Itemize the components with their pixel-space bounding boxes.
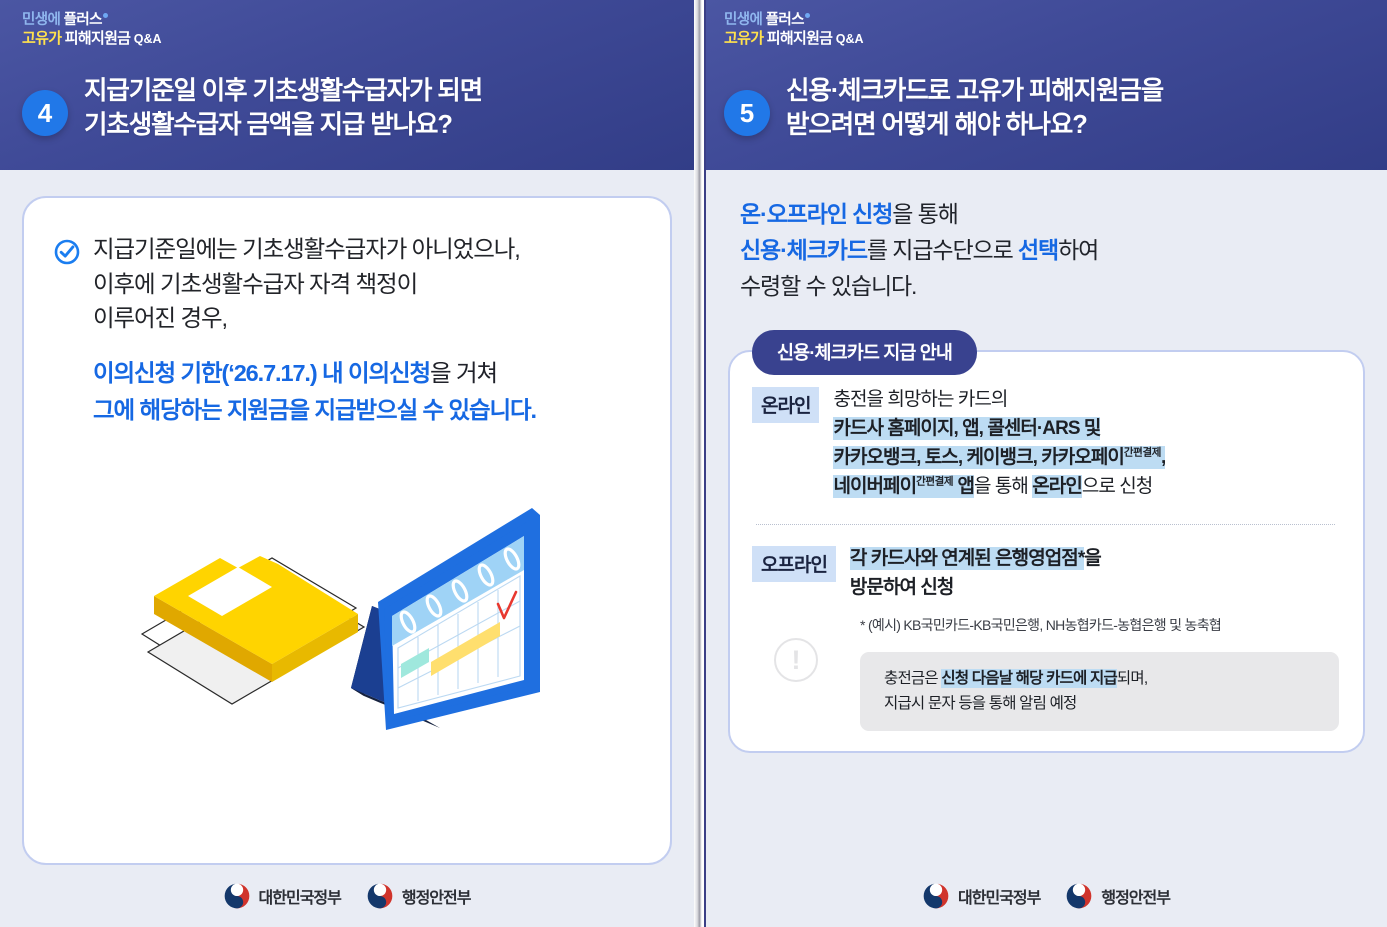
taegeuk-logo: [224, 883, 250, 909]
brand-logo: 민생에 플러스 고유가 피해지원금 Q&A: [724, 12, 1387, 48]
taegeuk-logo: [367, 883, 393, 909]
gov-logo-korea-label: 대한민국정부: [958, 884, 1040, 908]
offline-footnote: * (예시) KB국민카드-KB국민은행, NH농협카드-농협은행 및 농축협: [860, 615, 1339, 635]
offline-tag: 오프라인: [752, 546, 836, 582]
brand-line1-part1: 민생에: [22, 12, 60, 28]
online-line-3-mark: 카카오뱅크, 토스, 케이뱅크, 카카오페이간편결제,: [833, 446, 1165, 469]
online-line-4: 네이버페이간편결제 앱을 통해 온라인으로 신청: [833, 473, 1165, 502]
guide-box: 온라인 충전을 희망하는 카드의 카드사 홈페이지, 앱, 콜센터·ARS 및 …: [728, 350, 1365, 752]
online-line-4-text: 네이버페이: [833, 476, 916, 497]
question-number-badge-5: 5: [724, 90, 770, 136]
answer-line-1: 지급기준일에는 기초생활수급자가 아니었으나,: [93, 232, 536, 267]
answer-highlight-blue-1: 이의신청 기한(‘26.7.17.) 내 이의신청: [93, 360, 430, 386]
online-line-3: 카카오뱅크, 토스, 케이뱅크, 카카오페이간편결제,: [833, 444, 1165, 473]
gov-logo-mois: 행정안전부: [1066, 883, 1170, 909]
brand-line2-part2: 피해지원금: [767, 30, 833, 47]
right-footer: 대한민국정부 행정안전부: [706, 865, 1387, 927]
panel-question-4: 민생에 플러스 고유가 피해지원금 Q&A 4 지급기준일 이후 기초생활수급자…: [0, 0, 694, 927]
brand-line1-part1: 민생에: [724, 12, 762, 28]
calendar-and-folder-illustration: [120, 496, 540, 751]
answer-highlight-line-1: 이의신청 기한(‘26.7.17.) 내 이의신청을 거쳐: [93, 356, 536, 391]
gov-logo-korea: 대한민국정부: [224, 883, 341, 909]
note-line-1: 충전금은 신청 다음날 해당 카드에 지급되며,: [884, 666, 1321, 691]
answer-block: 지급기준일에는 기초생활수급자가 아니었으나, 이후에 기초생활수급자 자격 책…: [54, 232, 640, 428]
note-line-1-mark: 신청 다음날 해당 카드에 지급: [941, 669, 1117, 688]
brand-line1-part2: 플러스: [766, 12, 804, 28]
brand-line2-part1: 고유가: [22, 30, 61, 47]
brand-line2: 고유가 피해지원금 Q&A: [22, 31, 694, 48]
section-divider: [756, 524, 1335, 525]
left-question-row: 4 지급기준일 이후 기초생활수급자가 되면 기초생활수급자 금액을 지급 받나…: [22, 74, 694, 142]
gov-logo-korea-label: 대한민국정부: [259, 884, 341, 908]
right-intro-line-1: 온·오프라인 신청을 통해: [740, 196, 1387, 232]
brand-line2: 고유가 피해지원금 Q&A: [724, 31, 1387, 48]
answer-highlight-tail-1: 을 거쳐: [430, 360, 497, 386]
right-question-title: 신용·체크카드로 고유가 피해지원금을 받으려면 어떻게 해야 하나요?: [786, 74, 1163, 142]
gov-logo-mois-label: 행정안전부: [402, 884, 471, 908]
left-question-line-2: 기초생활수급자 금액을 지급 받나요?: [84, 111, 452, 139]
offline-line-1-mark: 각 카드사와 연계된 은행영업점*: [850, 547, 1084, 570]
note-callout: ! 충전금은 신청 다음날 해당 카드에 지급되며, 지급시 문자 등을 통해 …: [860, 652, 1339, 731]
online-tag: 온라인: [752, 387, 819, 423]
note-line-1-tail: 되며,: [1117, 670, 1147, 687]
right-intro-tail-2: 하여: [1058, 237, 1098, 263]
check-circle-icon: [54, 239, 80, 428]
right-intro-text: 온·오프라인 신청을 통해 신용·체크카드를 지급수단으로 선택하여 수령할 수…: [740, 196, 1387, 304]
offline-line-1: 각 카드사와 연계된 은행영업점*을: [850, 545, 1101, 574]
taegeuk-logo: [1066, 883, 1092, 909]
right-body: 온·오프라인 신청을 통해 신용·체크카드를 지급수단으로 선택하여 수령할 수…: [706, 170, 1387, 927]
taegeuk-logo: [923, 883, 949, 909]
online-line-2-mark: 카드사 홈페이지, 앱, 콜센터·ARS 및: [833, 417, 1100, 440]
question-number-badge-4: 4: [22, 90, 68, 136]
left-question-title: 지급기준일 이후 기초생활수급자가 되면 기초생활수급자 금액을 지급 받나요?: [84, 74, 482, 142]
brand-qa-label: Q&A: [134, 32, 162, 46]
brand-line1: 민생에 플러스: [724, 12, 1387, 28]
note-line-1-prefix: 충전금은: [884, 670, 941, 687]
answer-line-2: 이후에 기초생활수급자 자격 책정이: [93, 267, 536, 302]
online-line-3-punct: ,: [1161, 447, 1165, 468]
online-line-4-mark: 네이버페이간편결제 앱: [833, 475, 974, 498]
brand-line1-part2: 플러스: [64, 12, 102, 28]
right-question-line-2: 받으려면 어떻게 해야 하나요?: [786, 111, 1087, 139]
payment-guide-section: 신용·체크카드 지급 안내 온라인 충전을 희망하는 카드의 카드사 홈페이지,…: [728, 330, 1365, 865]
left-body: 지급기준일에는 기초생활수급자가 아니었으나, 이후에 기초생활수급자 자격 책…: [0, 170, 694, 927]
answer-text-group: 지급기준일에는 기초생활수급자가 아니었으나, 이후에 기초생활수급자 자격 책…: [93, 232, 536, 428]
panel-question-5: 민생에 플러스 고유가 피해지원금 Q&A 5 신용·체크카드로 고유가 피해지…: [704, 0, 1387, 927]
exclamation-icon: !: [774, 638, 818, 682]
online-line-4-app: 앱: [953, 476, 974, 497]
answer-line-3: 이루어진 경우,: [93, 301, 536, 336]
right-question-line-1: 신용·체크카드로 고유가 피해지원금을: [786, 77, 1163, 105]
brand-qa-label: Q&A: [836, 32, 864, 46]
brand-logo: 민생에 플러스 고유가 피해지원금 Q&A: [22, 12, 694, 48]
online-line-3-text: 카카오뱅크, 토스, 케이뱅크, 카카오페이: [833, 447, 1123, 468]
right-intro-highlight-1: 온·오프라인 신청: [740, 201, 892, 227]
guide-badge-label: 신용·체크카드 지급 안내: [752, 330, 977, 375]
gov-logo-mois-label: 행정안전부: [1101, 884, 1170, 908]
right-intro-mid-2: 를 지급수단으로: [867, 237, 1018, 263]
answer-highlight-line-2: 그에 해당하는 지원금을 지급받으실 수 있습니다.: [93, 393, 536, 428]
right-header: 민생에 플러스 고유가 피해지원금 Q&A 5 신용·체크카드로 고유가 피해지…: [706, 0, 1387, 170]
brand-line1: 민생에 플러스: [22, 12, 694, 28]
infographic-stage: 민생에 플러스 고유가 피해지원금 Q&A 4 지급기준일 이후 기초생활수급자…: [0, 0, 1387, 927]
offline-line-1-tail: 을: [1084, 548, 1101, 569]
offline-body: 각 카드사와 연계된 은행영업점*을 방문하여 신청: [850, 545, 1101, 603]
brand-dot-icon: [805, 13, 810, 18]
offline-section: 오프라인 각 카드사와 연계된 은행영업점*을 방문하여 신청: [752, 545, 1339, 603]
gov-logo-mois: 행정안전부: [367, 883, 471, 909]
right-intro-line-3: 수령할 수 있습니다.: [740, 268, 1387, 304]
note-line-2: 지급시 문자 등을 통해 알림 예정: [884, 691, 1321, 716]
brand-line2-part2: 피해지원금: [65, 30, 131, 47]
panel-divider: [694, 0, 704, 927]
note-box: 충전금은 신청 다음날 해당 카드에 지급되며, 지급시 문자 등을 통해 알림…: [860, 652, 1339, 731]
online-line-4-superscript: 간편결제: [916, 476, 953, 488]
left-question-line-1: 지급기준일 이후 기초생활수급자가 되면: [84, 77, 482, 105]
left-footer: 대한민국정부 행정안전부: [0, 865, 694, 927]
online-line-3-superscript: 간편결제: [1124, 447, 1161, 459]
brand-line2-part1: 고유가: [724, 30, 763, 47]
online-line-1: 충전을 희망하는 카드의: [833, 386, 1165, 415]
online-body: 충전을 희망하는 카드의 카드사 홈페이지, 앱, 콜센터·ARS 및 카카오뱅…: [833, 386, 1165, 502]
right-intro-tail-1: 을 통해: [892, 201, 957, 227]
right-intro-highlight-3: 선택: [1018, 237, 1058, 263]
right-question-row: 5 신용·체크카드로 고유가 피해지원금을 받으려면 어떻게 해야 하나요?: [724, 74, 1387, 142]
online-line-4-tail: 으로 신청: [1082, 476, 1152, 497]
right-intro-highlight-2: 신용·체크카드: [740, 237, 867, 263]
brand-dot-icon: [103, 13, 108, 18]
right-intro-line-2: 신용·체크카드를 지급수단으로 선택하여: [740, 232, 1387, 268]
gov-logo-korea: 대한민국정부: [923, 883, 1040, 909]
online-line-4-keyword: 온라인: [1032, 475, 1082, 498]
online-section: 온라인 충전을 희망하는 카드의 카드사 홈페이지, 앱, 콜센터·ARS 및 …: [752, 386, 1339, 502]
offline-line-1-text: 각 카드사와 연계된 은행영업점: [850, 548, 1078, 569]
online-line-4-mid: 을 통해: [974, 476, 1032, 497]
left-answer-card: 지급기준일에는 기초생활수급자가 아니었으나, 이후에 기초생활수급자 자격 책…: [22, 196, 672, 865]
left-header: 민생에 플러스 고유가 피해지원금 Q&A 4 지급기준일 이후 기초생활수급자…: [0, 0, 694, 170]
online-line-2: 카드사 홈페이지, 앱, 콜센터·ARS 및: [833, 415, 1165, 444]
offline-line-2: 방문하여 신청: [850, 574, 1101, 603]
